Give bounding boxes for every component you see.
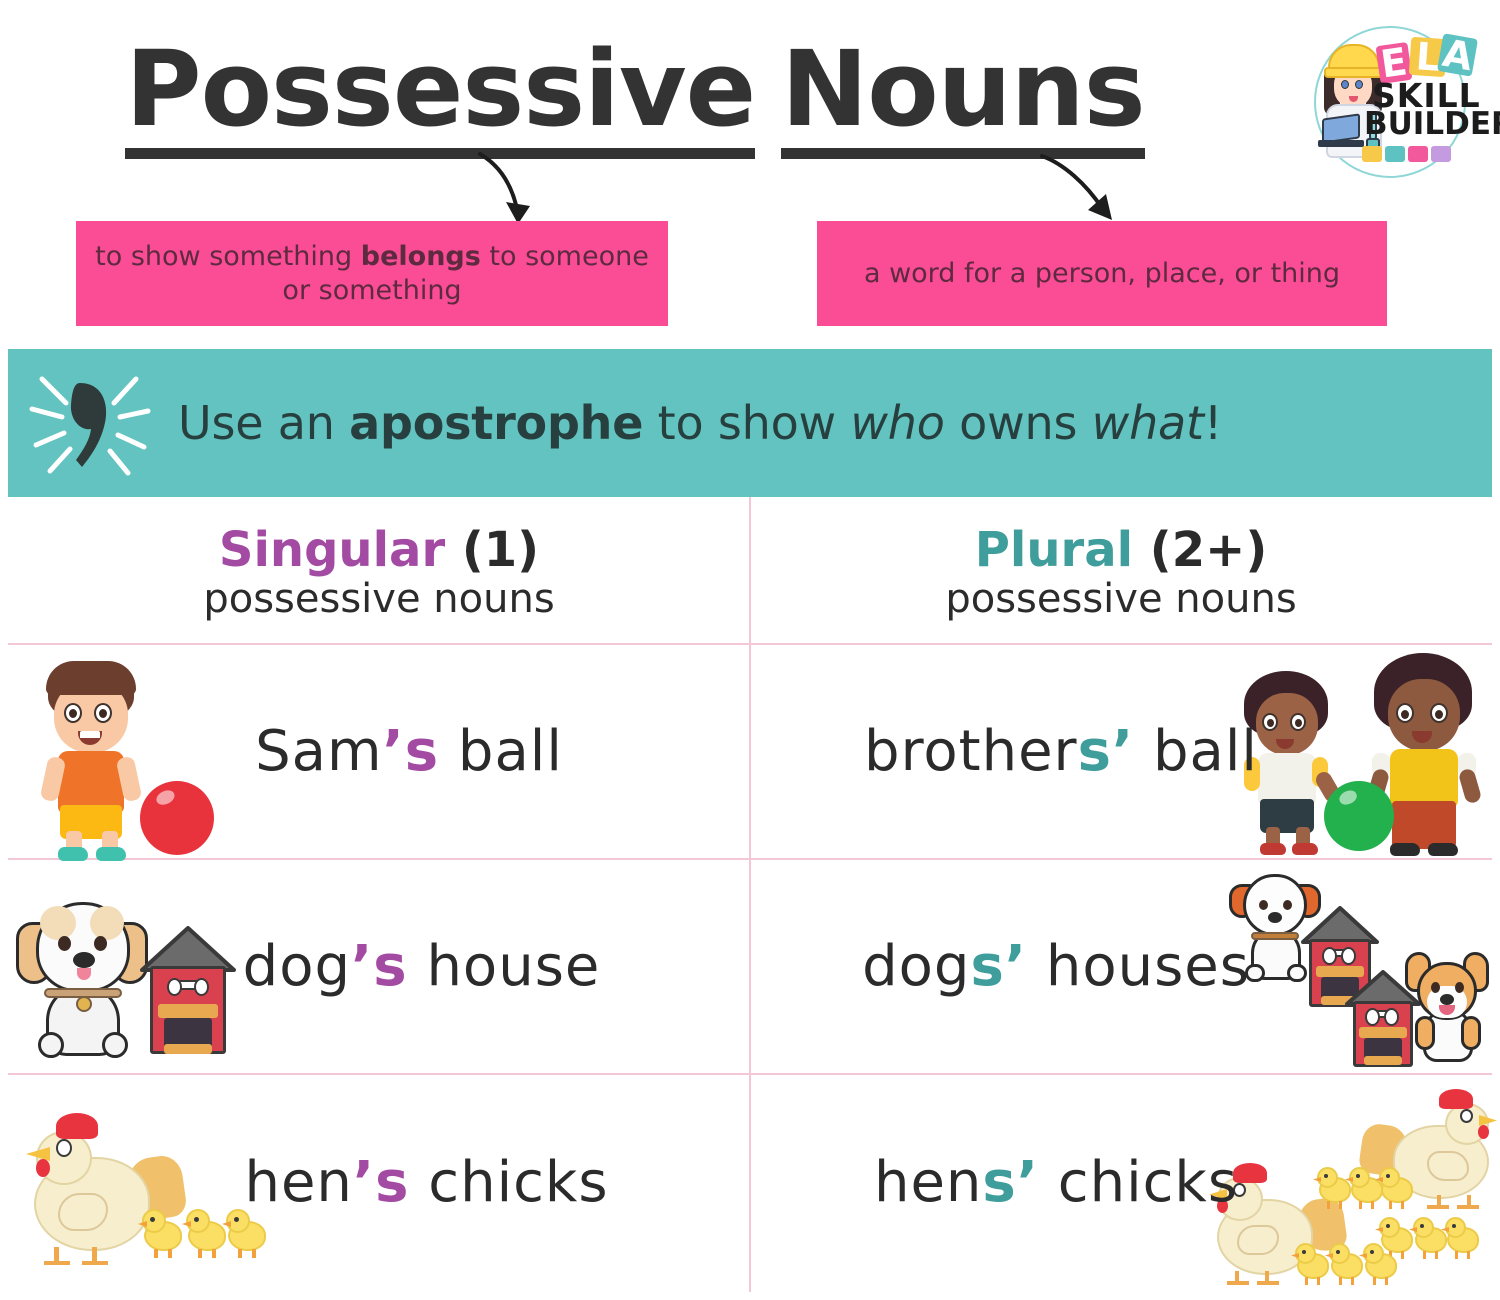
banner-italic-who: who (850, 396, 944, 450)
banner-italic-what: what (1092, 396, 1204, 450)
plural-heading-count: (2+) (1133, 522, 1267, 578)
banner-part2: to show (643, 396, 850, 450)
column-divider (749, 497, 751, 1292)
phrase-post: ball (439, 719, 563, 784)
laptop-icon (1318, 116, 1364, 148)
logo-text-builder: BUILDER (1364, 110, 1500, 139)
singular-subheading: possessive nouns (203, 576, 554, 622)
phrase-pre: brother (864, 719, 1078, 784)
two-brothers-with-green-ball-illustration (1228, 649, 1488, 859)
singular-heading-word: Singular (219, 522, 445, 578)
chick-icon (1445, 1215, 1485, 1261)
banner-part3: owns (945, 396, 1092, 450)
phrase-post: ball (1134, 719, 1258, 784)
corgi-dog-icon (1405, 950, 1489, 1066)
column-header-plural: Plural (2+) possessive nouns (750, 497, 1492, 643)
phrase-mark: ’s (351, 934, 408, 999)
phrase-mark: s’ (982, 1150, 1039, 1215)
possessive-nouns-table: Singular (1) possessive nouns Plural (2+… (8, 497, 1492, 1292)
ela-skill-builder-logo: E L A SKILL BUILDER (1306, 18, 1482, 186)
apostrophe-rule-banner: Use an apostrophe to show who owns what! (8, 349, 1492, 497)
hen-with-three-chicks-illustration (12, 1099, 262, 1275)
doghouse-icon (140, 926, 236, 1056)
example-phrase-hens-chicks: hen’s chicks (244, 1150, 608, 1215)
singular-heading-count: (1) (445, 522, 539, 578)
banner-part1: Use an (178, 396, 349, 450)
phrase-mark: s’ (970, 934, 1027, 999)
callout-left-part1: to show something (95, 241, 361, 272)
chick-icon (1379, 1165, 1419, 1211)
callout-left-bold: belongs (361, 241, 481, 272)
phrase-post: house (408, 934, 601, 999)
title-row: PossessiveNouns E (0, 0, 1500, 196)
phrase-pre: dog (243, 934, 351, 999)
green-ball-icon (1324, 781, 1394, 851)
puppy-with-doghouse-illustration (12, 874, 237, 1064)
cell-singular-ball: Sam’s ball (8, 645, 750, 858)
banner-part4: ! (1204, 396, 1222, 450)
example-phrase-dogs-house: dog’s house (243, 934, 601, 999)
two-dogs-with-two-doghouses-illustration (1223, 866, 1488, 1071)
example-phrase-brothers-ball: brothers’ ball (864, 719, 1258, 784)
red-ball-icon (140, 781, 214, 855)
logo-letter-a: A (1437, 33, 1478, 77)
title-word-possessive: Possessive (125, 35, 755, 159)
page-title: PossessiveNouns (0, 28, 1270, 159)
phrase-post: chicks (410, 1150, 609, 1215)
possessive-nouns-poster: PossessiveNouns E (0, 0, 1500, 1300)
callout-right-text: a word for a person, place, or thing (864, 257, 1340, 291)
callout-noun-definition: a word for a person, place, or thing (817, 221, 1387, 326)
phrase-mark: ’s (353, 1150, 410, 1215)
phrase-mark: s’ (1078, 719, 1135, 784)
phrase-pre: dog (862, 934, 970, 999)
logo-color-blocks (1362, 146, 1451, 162)
singular-heading: Singular (1) (219, 524, 539, 577)
apostrophe-rule-text: Use an apostrophe to show who owns what! (178, 396, 1222, 450)
chick-icon (142, 1207, 188, 1259)
cell-singular-house: dog’s house (8, 860, 750, 1073)
plural-subheading: possessive nouns (945, 576, 1296, 622)
two-hens-with-six-chicks-illustration (1213, 1089, 1488, 1287)
boy-with-red-ball-illustration (12, 653, 222, 858)
plural-heading: Plural (2+) (975, 524, 1268, 577)
phrase-post: chicks (1039, 1150, 1238, 1215)
callout-possessive-definition: to show something belongs to someone or … (76, 221, 668, 326)
title-word-nouns: Nouns (781, 35, 1144, 159)
example-phrase-dogs-houses: dogs’ houses (862, 934, 1250, 999)
cell-plural-chicks: hens’ chicks (750, 1075, 1492, 1290)
chick-icon (1363, 1241, 1403, 1287)
example-phrase-sams-ball: Sam’s ball (255, 719, 563, 784)
phrase-pre: hen (874, 1150, 982, 1215)
apostrophe-sparkle-icon (8, 349, 178, 497)
phrase-pre: Sam (255, 719, 382, 784)
phrase-post: houses (1027, 934, 1250, 999)
phrase-mark: ’s (383, 719, 440, 784)
plural-heading-word: Plural (975, 522, 1133, 578)
example-phrase-hens-chicks-plural: hens’ chicks (874, 1150, 1238, 1215)
phrase-pre: hen (244, 1150, 352, 1215)
column-header-singular: Singular (1) possessive nouns (8, 497, 750, 643)
cell-plural-ball: brothers’ ball (750, 645, 1492, 858)
cell-plural-houses: dogs’ houses (750, 860, 1492, 1073)
puppy-icon (16, 884, 146, 1056)
banner-bold: apostrophe (349, 396, 643, 450)
cell-singular-chicks: hen’s chicks (8, 1075, 750, 1290)
